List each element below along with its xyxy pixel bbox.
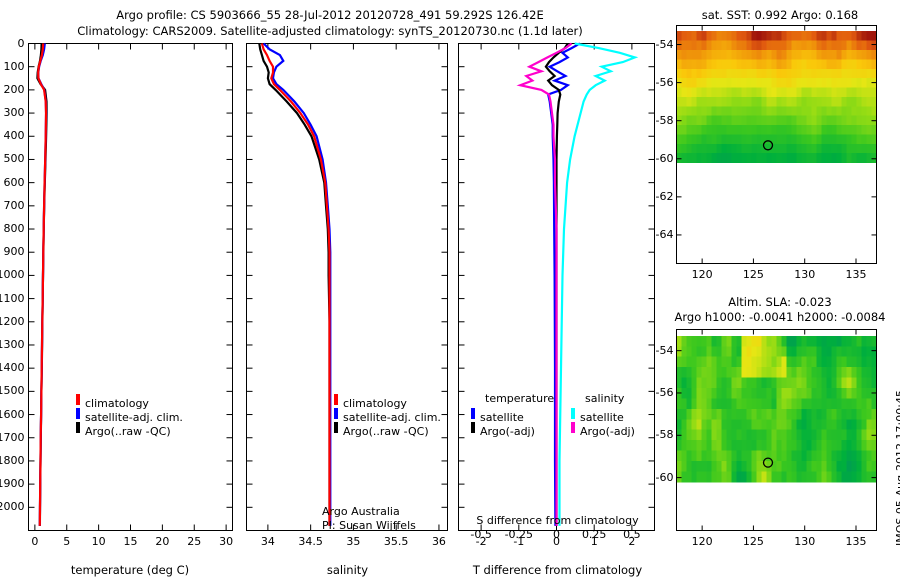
t-diff-x-tick: 2 <box>628 535 635 548</box>
legend-label: Argo(-adj) <box>480 425 535 438</box>
sla-map-panel: Altim. SLA: -0.023 Argo h1000: -0.0041 h… <box>660 290 900 580</box>
map-x-tick: 135 <box>845 535 866 548</box>
sst-map-title: sat. SST: 0.992 Argo: 0.168 <box>660 8 900 22</box>
map-y-tick: -64 <box>656 228 674 241</box>
temperature-y-tick: 400 <box>4 129 25 142</box>
legend-color-swatch <box>571 422 575 433</box>
temperature-x-tick: 20 <box>155 535 169 548</box>
temperature-y-tick: 800 <box>4 222 25 235</box>
salinity-x-tick: 34.5 <box>298 535 323 548</box>
temperature-y-tick: 1600 <box>0 408 25 421</box>
temperature-y-tick: 1100 <box>0 292 25 305</box>
temperature-y-tick: 900 <box>4 245 25 258</box>
temperature-plot-svg <box>0 0 240 580</box>
salinity-credit-line1: Argo Australia <box>322 505 400 518</box>
sst-map-panel: sat. SST: 0.992 Argo: 0.168 -54-56-58-60… <box>660 0 900 290</box>
difference-plot-svg <box>455 0 660 580</box>
legend-color-swatch <box>471 422 475 433</box>
temperature-y-tick: 1500 <box>0 384 25 397</box>
map-y-tick: -58 <box>656 428 674 441</box>
sst-map-svg <box>660 0 900 290</box>
salinity-plot-svg <box>240 0 455 580</box>
legend-color-swatch <box>76 394 80 405</box>
temperature-y-tick: 500 <box>4 152 25 165</box>
legend-label: Argo(..raw -QC) <box>343 425 429 438</box>
legend-color-swatch <box>76 408 80 419</box>
temperature-y-tick: 1800 <box>0 454 25 467</box>
map-x-tick: 130 <box>794 268 815 281</box>
sla-map-title-line2: Argo h1000: -0.0041 h2000: -0.0084 <box>660 310 900 324</box>
temperature-x-tick: 10 <box>92 535 106 548</box>
temperature-y-tick: 100 <box>4 60 25 73</box>
salinity-x-tick: 35 <box>346 535 360 548</box>
t-diff-x-tick: -2 <box>476 535 487 548</box>
temperature-x-tick: 30 <box>219 535 233 548</box>
legend-color-swatch <box>334 394 338 405</box>
legend-header: temperature <box>485 392 554 405</box>
salinity-x-tick: 35.5 <box>384 535 409 548</box>
legend-color-swatch <box>76 422 80 433</box>
temperature-y-tick: 700 <box>4 199 25 212</box>
map-y-tick: -54 <box>656 38 674 51</box>
temperature-panel: 0100200300400500600700800900100011001200… <box>0 0 240 580</box>
map-x-tick: 125 <box>743 535 764 548</box>
legend-header: salinity <box>585 392 624 405</box>
temperature-axis-label: temperature (deg C) <box>0 563 260 577</box>
map-x-tick: 125 <box>743 268 764 281</box>
temperature-y-tick: 1000 <box>0 268 25 281</box>
map-x-tick: 120 <box>692 535 713 548</box>
temperature-y-tick: 1700 <box>0 431 25 444</box>
temperature-y-tick: 1200 <box>0 315 25 328</box>
temperature-y-tick: 0 <box>18 37 25 50</box>
salinity-credit-line2: PI: Susan Wijffels <box>322 519 416 532</box>
map-y-tick: -56 <box>656 386 674 399</box>
salinity-panel: 3434.53535.536 salinity climatologysatel… <box>240 0 455 580</box>
map-x-tick: 120 <box>692 268 713 281</box>
legend-item: Argo(..raw -QC) <box>334 420 429 439</box>
t-diff-x-tick: 0 <box>553 535 560 548</box>
temperature-x-tick: 0 <box>31 535 38 548</box>
temperature-y-tick: 2000 <box>0 500 25 513</box>
map-y-tick: -58 <box>656 114 674 127</box>
temperature-x-tick: 5 <box>63 535 70 548</box>
legend-color-swatch <box>471 408 475 419</box>
legend-color-swatch <box>334 408 338 419</box>
temperature-y-tick: 1900 <box>0 477 25 490</box>
map-x-tick: 130 <box>794 535 815 548</box>
sla-map-title-line1: Altim. SLA: -0.023 <box>660 295 900 309</box>
legend-color-swatch <box>571 408 575 419</box>
salinity-x-tick: 36 <box>432 535 446 548</box>
temperature-x-tick: 25 <box>187 535 201 548</box>
difference-panel: -0.5-0.2500.250.5 -2-1012 S difference f… <box>455 0 660 580</box>
legend-label: Argo(..raw -QC) <box>85 425 171 438</box>
legend-label: Argo(-adj) <box>580 425 635 438</box>
temperature-difference-axis-label: T difference from climatology <box>455 563 660 577</box>
map-y-tick: -62 <box>656 190 674 203</box>
temperature-y-tick: 200 <box>4 83 25 96</box>
map-y-tick: -56 <box>656 76 674 89</box>
temperature-y-tick: 1400 <box>0 361 25 374</box>
t-diff-x-tick: -1 <box>513 535 524 548</box>
temperature-y-tick: 1300 <box>0 338 25 351</box>
temperature-x-tick: 15 <box>124 535 138 548</box>
salinity-difference-axis-label: S difference from climatology <box>455 514 660 527</box>
map-x-tick: 135 <box>845 268 866 281</box>
temperature-y-tick: 600 <box>4 176 25 189</box>
salinity-x-tick: 34 <box>261 535 275 548</box>
salinity-axis-label: salinity <box>240 563 455 577</box>
map-y-tick: -60 <box>656 471 674 484</box>
legend-item: Argo(-adj) <box>571 420 635 439</box>
map-y-tick: -60 <box>656 152 674 165</box>
imos-timestamp: IMOS 05-Aug-2012 17:00:45 <box>894 390 900 546</box>
t-diff-x-tick: 1 <box>591 535 598 548</box>
temperature-y-tick: 300 <box>4 106 25 119</box>
legend-color-swatch <box>334 422 338 433</box>
legend-item: Argo(..raw -QC) <box>76 420 171 439</box>
legend-item: Argo(-adj) <box>471 420 535 439</box>
map-y-tick: -54 <box>656 344 674 357</box>
